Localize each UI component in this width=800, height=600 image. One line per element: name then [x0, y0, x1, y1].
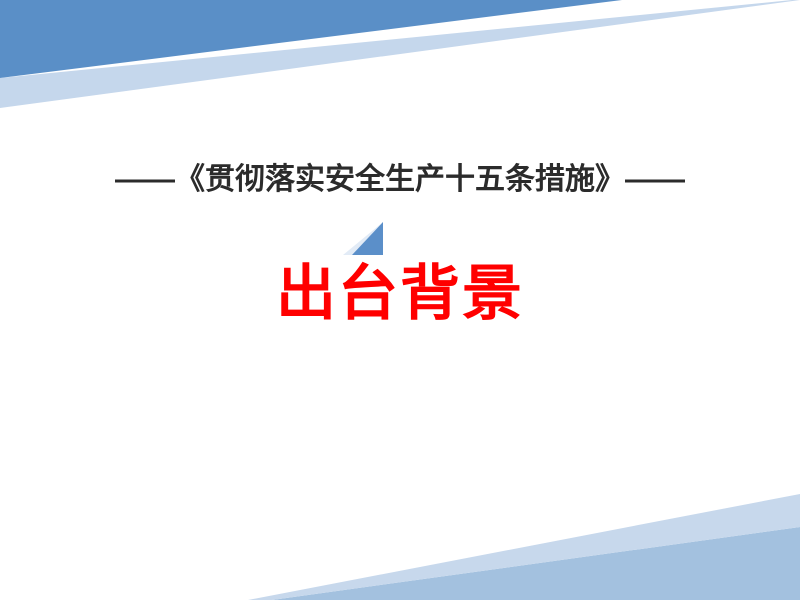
- slide-title: 出台背景: [0, 258, 800, 330]
- accent-triangle-icon: [341, 220, 387, 257]
- slide-subtitle: ——《贯彻落实安全生产十五条措施》——: [0, 160, 800, 200]
- slide-canvas: ——《贯彻落实安全生产十五条措施》—— 出台背景: [0, 0, 800, 600]
- slide-content: ——《贯彻落实安全生产十五条措施》—— 出台背景: [0, 0, 800, 600]
- triangle-icon: [341, 220, 387, 257]
